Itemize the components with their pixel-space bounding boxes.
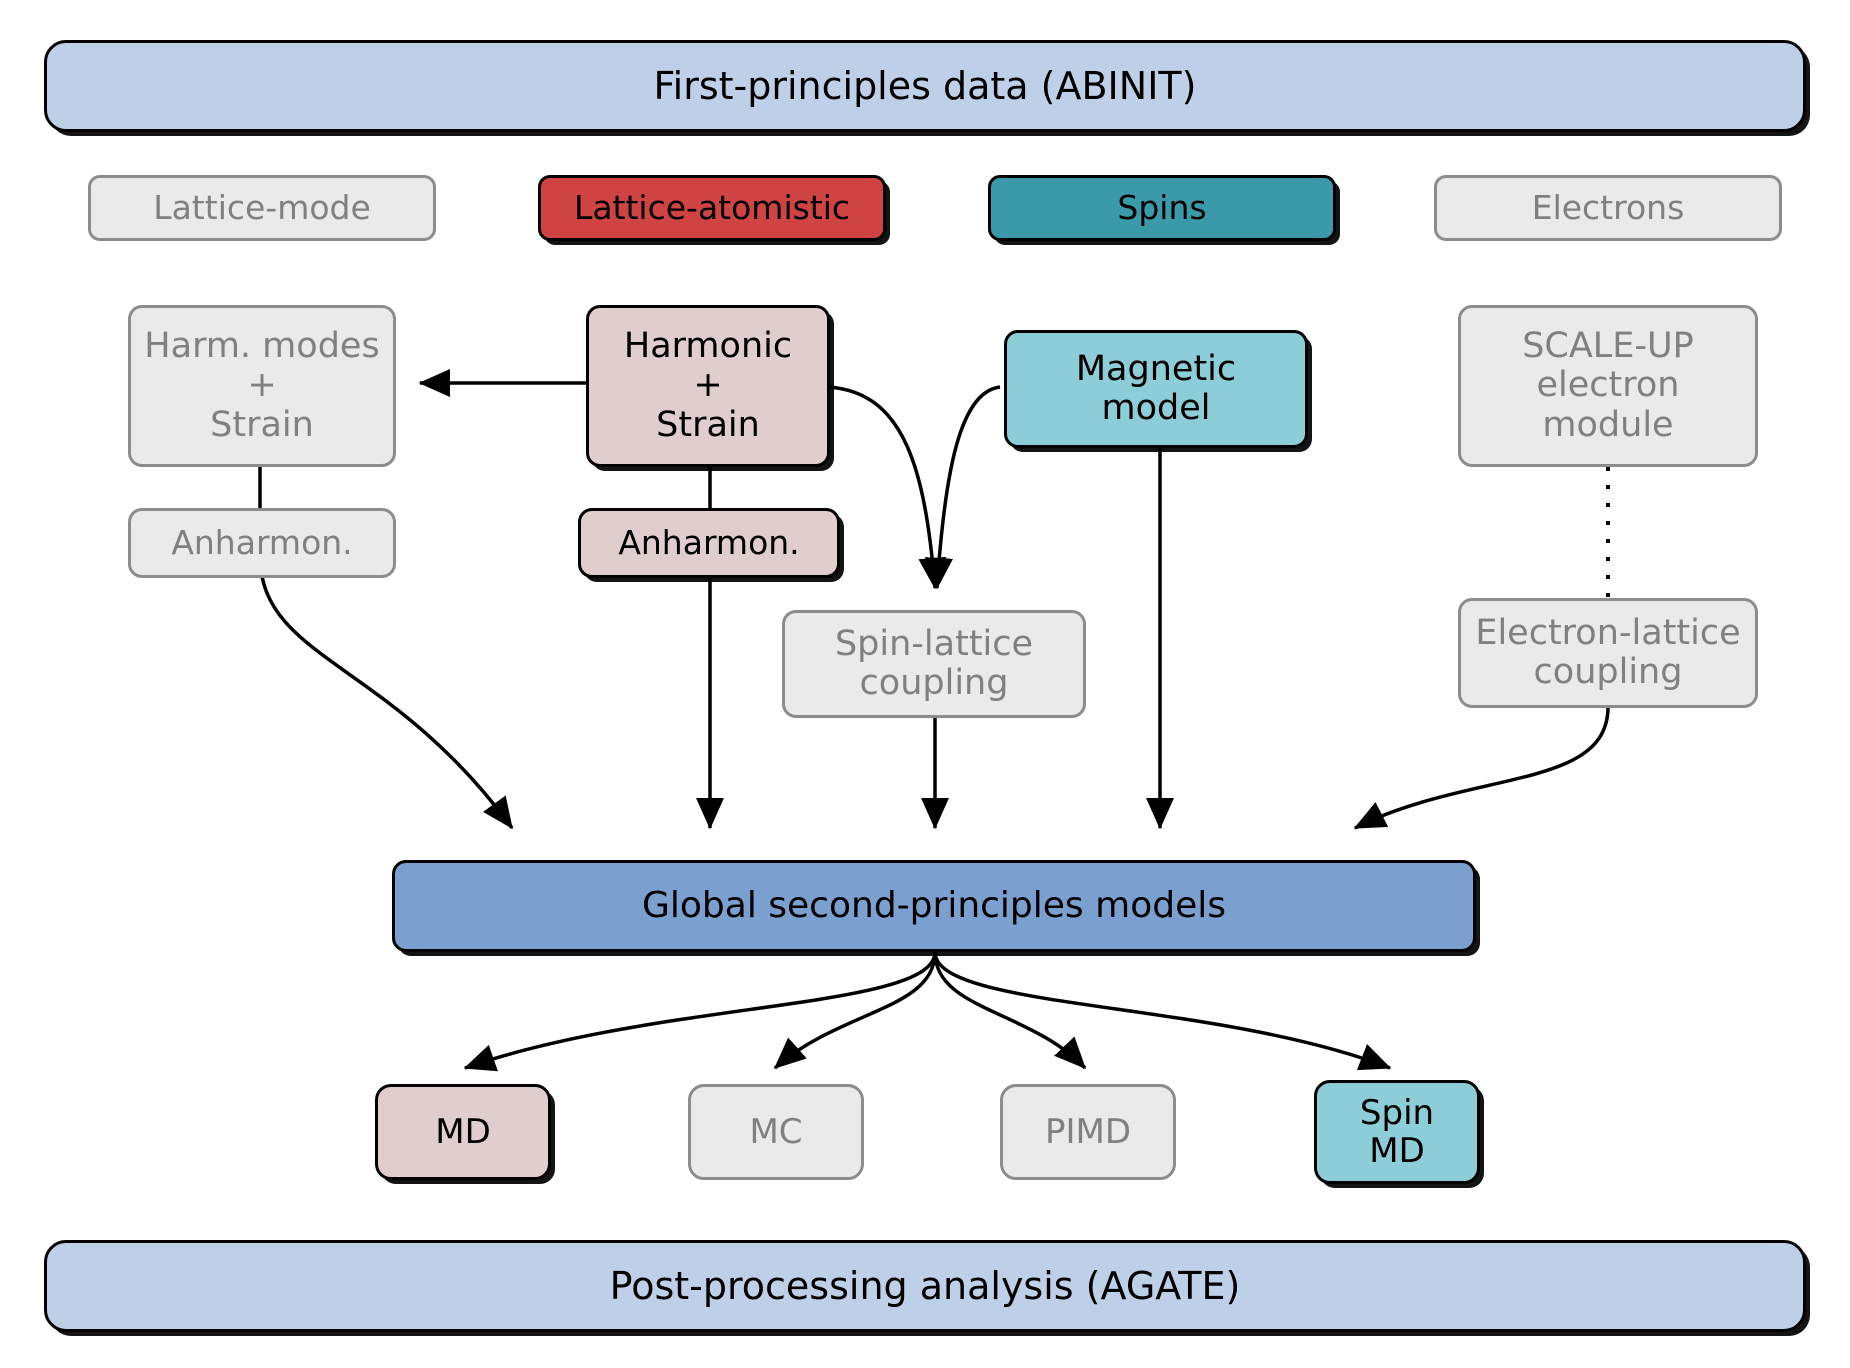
banner-first-principles-data: First-principles data (ABINIT) — [44, 40, 1806, 132]
method-mc[interactable]: MC — [688, 1084, 864, 1180]
node-scaleup-electron-module[interactable]: SCALE-UP electron module — [1458, 305, 1758, 467]
node-anharmon-label: Anharmon. — [618, 525, 799, 562]
node-anharmon-dim[interactable]: Anharmon. — [128, 508, 396, 578]
category-spins[interactable]: Spins — [988, 175, 1336, 241]
node-harmonic-strain-label: Harmonic + Strain — [624, 327, 792, 445]
banner-bottom-label: Post-processing analysis (AGATE) — [610, 1265, 1241, 1308]
node-spin-lattice-coupling[interactable]: Spin-lattice coupling — [782, 610, 1086, 718]
banner-top-label: First-principles data (ABINIT) — [654, 65, 1197, 108]
edge-anharmon-dim-to-global — [260, 555, 512, 828]
edge-global-to-mc — [775, 952, 935, 1068]
node-harm-modes-strain-label: Harm. modes + Strain — [144, 327, 379, 445]
node-global-models-label: Global second-principles models — [642, 886, 1226, 926]
category-lattice-atomistic[interactable]: Lattice-atomistic — [538, 175, 886, 241]
method-pimd[interactable]: PIMD — [1000, 1084, 1176, 1180]
node-electron-lattice-coupling-label: Electron-lattice coupling — [1475, 614, 1740, 692]
node-global-second-principles-models[interactable]: Global second-principles models — [392, 860, 1476, 952]
node-scaleup-electron-module-label: SCALE-UP electron module — [1522, 327, 1694, 445]
banner-post-processing-analysis: Post-processing analysis (AGATE) — [44, 1240, 1806, 1332]
node-magnetic-model-label: Magnetic model — [1076, 350, 1236, 428]
node-anharmon-dim-label: Anharmon. — [171, 525, 352, 562]
node-harm-modes-strain[interactable]: Harm. modes + Strain — [128, 305, 396, 467]
method-md-label: MD — [435, 1113, 491, 1151]
method-mc-label: MC — [749, 1113, 802, 1151]
method-spin-md-label: Spin MD — [1360, 1094, 1434, 1170]
method-md[interactable]: MD — [375, 1084, 551, 1180]
category-lattice-mode-label: Lattice-mode — [153, 190, 371, 227]
category-lattice-mode[interactable]: Lattice-mode — [88, 175, 436, 241]
node-magnetic-model[interactable]: Magnetic model — [1004, 330, 1308, 448]
edge-electronlattice-to-global — [1355, 707, 1608, 828]
node-electron-lattice-coupling[interactable]: Electron-lattice coupling — [1458, 598, 1758, 708]
method-spin-md[interactable]: Spin MD — [1314, 1080, 1480, 1184]
edge-global-to-pimd — [935, 952, 1085, 1068]
category-electrons[interactable]: Electrons — [1434, 175, 1782, 241]
category-lattice-atomistic-label: Lattice-atomistic — [574, 190, 850, 227]
node-harmonic-strain[interactable]: Harmonic + Strain — [586, 305, 830, 467]
edge-harmonic-to-spinlattice — [828, 387, 935, 588]
category-electrons-label: Electrons — [1532, 190, 1685, 227]
node-anharmon[interactable]: Anharmon. — [578, 508, 840, 578]
method-pimd-label: PIMD — [1045, 1113, 1131, 1151]
diagram-canvas: First-principles data (ABINIT) Lattice-m… — [0, 0, 1850, 1368]
edge-global-to-spinmd — [935, 952, 1390, 1068]
category-spins-label: Spins — [1117, 190, 1206, 227]
node-spin-lattice-coupling-label: Spin-lattice coupling — [835, 625, 1033, 703]
edge-magnetic-to-spinlattice — [937, 387, 1000, 588]
edge-global-to-md — [465, 952, 935, 1068]
